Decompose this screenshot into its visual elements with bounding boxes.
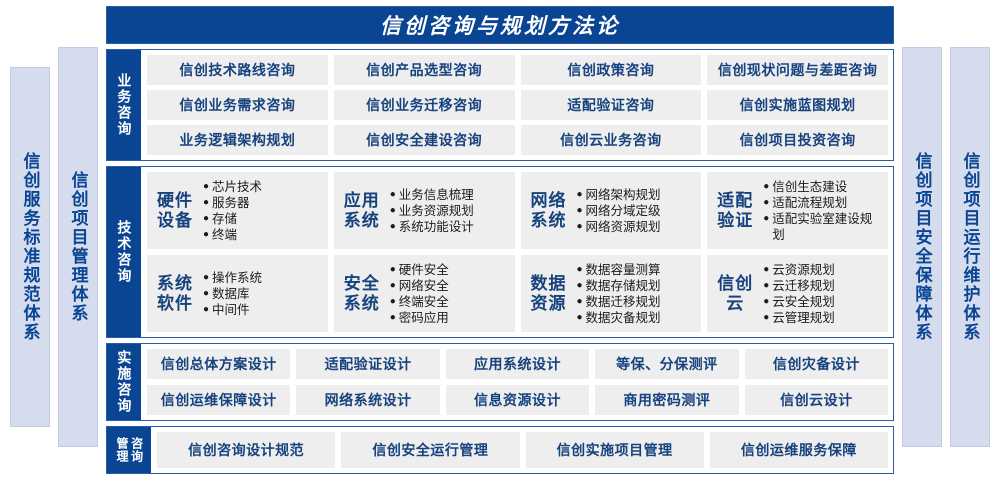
section-body-implementation: 信创总体方案设计 适配验证设计 应用系统设计 等保、分保测评 信创灾备设计 信创… bbox=[141, 344, 893, 420]
chip-item[interactable]: 信创运维服务保障 bbox=[710, 432, 888, 468]
bullet-icon: ● bbox=[763, 262, 769, 277]
bullet-icon: ● bbox=[577, 278, 583, 293]
bullet-icon: ● bbox=[763, 310, 769, 325]
chip-item[interactable]: 信创云业务咨询 bbox=[521, 125, 702, 155]
chip-item[interactable]: 网络系统设计 bbox=[296, 385, 439, 415]
list-item: 芯片技术 bbox=[212, 179, 262, 195]
list-item: 网络分域定级 bbox=[586, 203, 661, 219]
bullet-icon: ● bbox=[763, 179, 769, 194]
list-item: 终端 bbox=[212, 227, 237, 243]
card-title: 硬件 设备 bbox=[153, 191, 197, 229]
chip-item[interactable]: 信创安全建设咨询 bbox=[334, 125, 515, 155]
card-row: 系统 软件 ●操作系统 ●数据库 ●中间件 安全 系统 ●硬件安全 ●网络安全 … bbox=[147, 255, 888, 332]
chip-row: 业务逻辑架构规划 信创安全建设咨询 信创云业务咨询 信创项目投资咨询 bbox=[147, 125, 888, 155]
card-title: 适配 验证 bbox=[713, 191, 757, 229]
section-technical-consulting: 技术咨询 硬件 设备 ●芯片技术 ●服务器 ●存储 ●终端 应用 系统 bbox=[106, 166, 894, 338]
section-label-management-right: 管理 bbox=[115, 437, 128, 463]
list-item: 数据库 bbox=[212, 286, 250, 302]
bullet-icon: ● bbox=[390, 310, 396, 325]
chip-item[interactable]: 信创灾备设计 bbox=[745, 349, 888, 379]
card-list: ●信创生态建设 ●适配流程规划 ●适配实验室建设规划 bbox=[763, 179, 882, 243]
chip-item[interactable]: 商用密码测评 bbox=[595, 385, 738, 415]
pillar-project-management: 信创项目管理体系 bbox=[58, 47, 98, 447]
section-label-implementation-text: 实施咨询 bbox=[117, 350, 132, 414]
pillar-project-security: 信创项目安全保障体系 bbox=[902, 47, 942, 447]
list-item: 操作系统 bbox=[212, 270, 262, 286]
card-title: 应用 系统 bbox=[340, 191, 384, 229]
bullet-icon: ● bbox=[763, 211, 769, 226]
section-consulting-management: 咨询 管理 信创咨询设计规范 信创安全运行管理 信创实施项目管理 信创运维服务保… bbox=[106, 426, 894, 474]
card-list: ●芯片技术 ●服务器 ●存储 ●终端 bbox=[203, 179, 322, 243]
card-adaptation-verification[interactable]: 适配 验证 ●信创生态建设 ●适配流程规划 ●适配实验室建设规划 bbox=[707, 172, 888, 249]
list-item: 适配实验室建设规划 bbox=[772, 211, 882, 243]
bullet-icon: ● bbox=[203, 270, 209, 285]
card-list: ●网络架构规划 ●网络分域定级 ●网络资源规划 bbox=[577, 187, 696, 235]
section-label-management: 咨询 管理 bbox=[107, 427, 151, 473]
pillar-project-management-label: 信创项目管理体系 bbox=[70, 171, 87, 323]
card-list: ●操作系统 ●数据库 ●中间件 bbox=[203, 270, 322, 318]
list-item: 密码应用 bbox=[399, 310, 449, 326]
chip-item[interactable]: 等保、分保测评 bbox=[595, 349, 738, 379]
chip-item[interactable]: 信创产品选型咨询 bbox=[334, 55, 515, 85]
section-label-business: 业务咨询 bbox=[107, 50, 141, 160]
list-item: 终端安全 bbox=[399, 294, 449, 310]
bullet-icon: ● bbox=[577, 310, 583, 325]
diagram-root: 信创服务标准规范体系 信创项目管理体系 信创咨询与规划方法论 业务咨询 信创技术… bbox=[0, 0, 1000, 496]
section-label-business-text: 业务咨询 bbox=[117, 73, 132, 137]
chip-row: 信创咨询设计规范 信创安全运行管理 信创实施项目管理 信创运维服务保障 bbox=[157, 432, 888, 468]
pillar-project-operation-label: 信创项目运行维护体系 bbox=[962, 152, 979, 342]
pillar-project-security-label: 信创项目安全保障体系 bbox=[914, 152, 931, 342]
bullet-icon: ● bbox=[763, 294, 769, 309]
bullet-icon: ● bbox=[203, 211, 209, 226]
bullet-icon: ● bbox=[203, 227, 209, 242]
chip-item[interactable]: 信创实施蓝图规划 bbox=[707, 90, 888, 120]
card-list: ●硬件安全 ●网络安全 ●终端安全 ●密码应用 bbox=[390, 262, 509, 326]
bullet-icon: ● bbox=[390, 278, 396, 293]
card-title: 系统 软件 bbox=[153, 274, 197, 312]
card-network-system[interactable]: 网络 系统 ●网络架构规划 ●网络分域定级 ●网络资源规划 bbox=[521, 172, 702, 249]
bullet-icon: ● bbox=[577, 203, 583, 218]
chip-item[interactable]: 信创咨询设计规范 bbox=[157, 432, 335, 468]
list-item: 网络架构规划 bbox=[586, 187, 661, 203]
center-column: 信创咨询与规划方法论 业务咨询 信创技术路线咨询 信创产品选型咨询 信创政策咨询… bbox=[106, 6, 894, 488]
chip-row: 信创运维保障设计 网络系统设计 信息资源设计 商用密码测评 信创云设计 bbox=[147, 385, 888, 415]
chip-item[interactable]: 信创安全运行管理 bbox=[341, 432, 519, 468]
bullet-icon: ● bbox=[203, 179, 209, 194]
section-body-technical: 硬件 设备 ●芯片技术 ●服务器 ●存储 ●终端 应用 系统 ●业务信息梳理 ●… bbox=[141, 167, 893, 337]
card-row: 硬件 设备 ●芯片技术 ●服务器 ●存储 ●终端 应用 系统 ●业务信息梳理 ●… bbox=[147, 172, 888, 249]
bullet-icon: ● bbox=[390, 203, 396, 218]
card-title: 数据 资源 bbox=[527, 274, 571, 312]
page-title: 信创咨询与规划方法论 bbox=[106, 6, 894, 44]
chip-item[interactable]: 信创业务需求咨询 bbox=[147, 90, 328, 120]
section-body-management: 信创咨询设计规范 信创安全运行管理 信创实施项目管理 信创运维服务保障 bbox=[151, 427, 893, 473]
list-item: 存储 bbox=[212, 211, 237, 227]
list-item: 业务资源规划 bbox=[399, 203, 474, 219]
list-item: 中间件 bbox=[212, 302, 250, 318]
list-item: 网络资源规划 bbox=[586, 219, 661, 235]
bullet-icon: ● bbox=[203, 286, 209, 301]
chip-item[interactable]: 应用系统设计 bbox=[446, 349, 589, 379]
list-item: 数据迁移规划 bbox=[586, 294, 661, 310]
bullet-icon: ● bbox=[577, 219, 583, 234]
bullet-icon: ● bbox=[577, 294, 583, 309]
bullet-icon: ● bbox=[390, 294, 396, 309]
list-item: 服务器 bbox=[212, 195, 250, 211]
chip-item[interactable]: 信息资源设计 bbox=[446, 385, 589, 415]
card-application-system[interactable]: 应用 系统 ●业务信息梳理 ●业务资源规划 ●系统功能设计 bbox=[334, 172, 515, 249]
card-title: 安全 系统 bbox=[340, 274, 384, 312]
chip-row: 信创总体方案设计 适配验证设计 应用系统设计 等保、分保测评 信创灾备设计 bbox=[147, 349, 888, 379]
section-business-consulting: 业务咨询 信创技术路线咨询 信创产品选型咨询 信创政策咨询 信创现状问题与差距咨… bbox=[106, 49, 894, 161]
chip-item[interactable]: 信创运维保障设计 bbox=[147, 385, 290, 415]
list-item: 云管理规划 bbox=[772, 310, 835, 326]
pillar-service-standard-label: 信创服务标准规范体系 bbox=[22, 152, 39, 342]
bullet-icon: ● bbox=[390, 219, 396, 234]
chip-item[interactable]: 信创现状问题与差距咨询 bbox=[707, 55, 888, 85]
chip-item[interactable]: 信创项目投资咨询 bbox=[707, 125, 888, 155]
section-implementation-consulting: 实施咨询 信创总体方案设计 适配验证设计 应用系统设计 等保、分保测评 信创灾备… bbox=[106, 343, 894, 421]
card-xinchuang-cloud[interactable]: 信创 云 ●云资源规划 ●云迁移规划 ●云安全规划 ●云管理规划 bbox=[707, 255, 888, 332]
chip-row: 信创业务需求咨询 信创业务迁移咨询 适配验证咨询 信创实施蓝图规划 bbox=[147, 90, 888, 120]
section-label-management-left: 咨询 bbox=[130, 437, 143, 463]
bullet-icon: ● bbox=[763, 195, 769, 210]
list-item: 数据灾备规划 bbox=[586, 310, 661, 326]
card-title: 信创 云 bbox=[713, 274, 757, 312]
list-item: 云安全规划 bbox=[772, 294, 835, 310]
chip-item[interactable]: 信创政策咨询 bbox=[521, 55, 702, 85]
list-item: 云资源规划 bbox=[772, 262, 835, 278]
chip-item[interactable]: 信创实施项目管理 bbox=[526, 432, 704, 468]
section-label-implementation: 实施咨询 bbox=[107, 344, 141, 420]
pillar-project-operation: 信创项目运行维护体系 bbox=[950, 47, 990, 447]
list-item: 数据存储规划 bbox=[586, 278, 661, 294]
section-label-technical: 技术咨询 bbox=[107, 167, 141, 337]
card-list: ●数据容量测算 ●数据存储规划 ●数据迁移规划 ●数据灾备规划 bbox=[577, 262, 696, 326]
bullet-icon: ● bbox=[203, 195, 209, 210]
bullet-icon: ● bbox=[390, 187, 396, 202]
list-item: 云迁移规划 bbox=[772, 278, 835, 294]
list-item: 系统功能设计 bbox=[399, 219, 474, 235]
bullet-icon: ● bbox=[203, 302, 209, 317]
list-item: 网络安全 bbox=[399, 278, 449, 294]
card-list: ●云资源规划 ●云迁移规划 ●云安全规划 ●云管理规划 bbox=[763, 262, 882, 326]
card-list: ●业务信息梳理 ●业务资源规划 ●系统功能设计 bbox=[390, 187, 509, 235]
bullet-icon: ● bbox=[577, 262, 583, 277]
section-body-business: 信创技术路线咨询 信创产品选型咨询 信创政策咨询 信创现状问题与差距咨询 信创业… bbox=[141, 50, 893, 160]
chip-item[interactable]: 适配验证设计 bbox=[296, 349, 439, 379]
chip-item[interactable]: 信创技术路线咨询 bbox=[147, 55, 328, 85]
chip-item[interactable]: 业务逻辑架构规划 bbox=[147, 125, 328, 155]
card-data-resource[interactable]: 数据 资源 ●数据容量测算 ●数据存储规划 ●数据迁移规划 ●数据灾备规划 bbox=[521, 255, 702, 332]
pillar-service-standard: 信创服务标准规范体系 bbox=[10, 67, 50, 427]
bullet-icon: ● bbox=[763, 278, 769, 293]
section-label-technical-text: 技术咨询 bbox=[117, 220, 132, 284]
card-title: 网络 系统 bbox=[527, 191, 571, 229]
bullet-icon: ● bbox=[390, 262, 396, 277]
list-item: 硬件安全 bbox=[399, 262, 449, 278]
list-item: 信创生态建设 bbox=[772, 179, 847, 195]
card-security-system[interactable]: 安全 系统 ●硬件安全 ●网络安全 ●终端安全 ●密码应用 bbox=[334, 255, 515, 332]
chip-item[interactable]: 适配验证咨询 bbox=[521, 90, 702, 120]
chip-row: 信创技术路线咨询 信创产品选型咨询 信创政策咨询 信创现状问题与差距咨询 bbox=[147, 55, 888, 85]
chip-item[interactable]: 信创业务迁移咨询 bbox=[334, 90, 515, 120]
card-system-software[interactable]: 系统 软件 ●操作系统 ●数据库 ●中间件 bbox=[147, 255, 328, 332]
bullet-icon: ● bbox=[577, 187, 583, 202]
card-hardware-device[interactable]: 硬件 设备 ●芯片技术 ●服务器 ●存储 ●终端 bbox=[147, 172, 328, 249]
list-item: 适配流程规划 bbox=[772, 195, 847, 211]
list-item: 业务信息梳理 bbox=[399, 187, 474, 203]
list-item: 数据容量测算 bbox=[586, 262, 661, 278]
chip-item[interactable]: 信创云设计 bbox=[745, 385, 888, 415]
chip-item[interactable]: 信创总体方案设计 bbox=[147, 349, 290, 379]
